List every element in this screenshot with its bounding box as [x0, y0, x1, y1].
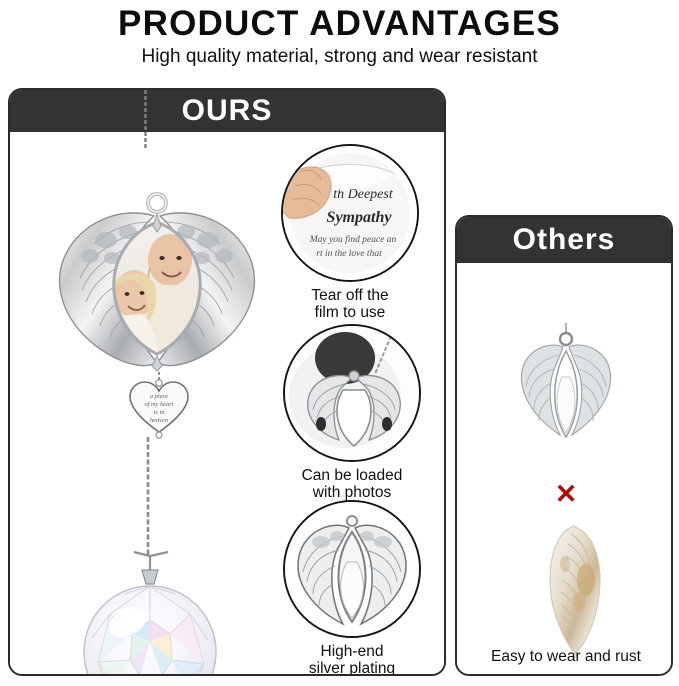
peel-film-photo-icon: th Deepest Sympathy May you find peace a… [281, 144, 419, 282]
feature-callout-silver-plating: High-end silver plating [276, 500, 428, 676]
tarnished-rusted-wing-photo [457, 518, 673, 658]
iridescent-crystal-ball [62, 550, 238, 676]
feature-caption-line2: film to use [274, 304, 426, 321]
feature-caption-line1: High-end [276, 643, 428, 660]
feature-caption-line2: silver plating [276, 660, 428, 676]
heart-charm-engraved: a piece of my heart is in heaven [122, 372, 196, 440]
page-title: PRODUCT ADVANTAGES [0, 4, 679, 44]
svg-text:is in: is in [154, 409, 165, 416]
svg-text:Sympathy: Sympathy [327, 209, 393, 226]
ours-panel-label: OURS [182, 94, 273, 128]
feature-caption: High-end silver plating [276, 643, 428, 676]
others-panel-header: Others [457, 217, 671, 263]
ours-panel-header: OURS [10, 90, 444, 132]
others-panel: Others [455, 215, 673, 676]
angel-wings-heart-photo-product [46, 186, 268, 371]
product-advantages-infographic: PRODUCT ADVANTAGES High quality material… [0, 0, 679, 686]
feature-caption-line1: Can be loaded [276, 467, 428, 484]
others-panel-label: Others [513, 223, 616, 257]
svg-text:a piece: a piece [150, 393, 168, 400]
plain-silver-wings-photo [457, 323, 673, 443]
svg-text:heaven: heaven [150, 417, 168, 424]
ours-panel: OURS [8, 88, 446, 676]
hanging-chain-lower [146, 437, 150, 555]
svg-text:of my heart: of my heart [144, 401, 173, 408]
feature-caption: Tear off the film to use [274, 287, 426, 322]
feature-callout-load-photos: Can be loaded with photos [276, 324, 428, 502]
reject-x-mark: ✕ [457, 481, 673, 508]
svg-text:rt in the love that: rt in the love that [316, 249, 382, 259]
feature-caption: Can be loaded with photos [276, 467, 428, 502]
page-subtitle: High quality material, strong and wear r… [0, 46, 679, 68]
others-caption: Easy to wear and rust [457, 648, 673, 666]
photo-insert-photo-icon [283, 324, 421, 462]
others-panel-body: ✕ [457, 263, 671, 676]
ours-panel-body: a piece of my heart is in heaven [10, 132, 444, 676]
silver-wings-photo-icon [283, 500, 421, 638]
svg-text:May you find peace an: May you find peace an [309, 234, 397, 245]
hanging-chain-top [144, 90, 147, 148]
feature-caption-line1: Tear off the [274, 287, 426, 304]
feature-callout-tear-film: th Deepest Sympathy May you find peace a… [274, 144, 426, 322]
